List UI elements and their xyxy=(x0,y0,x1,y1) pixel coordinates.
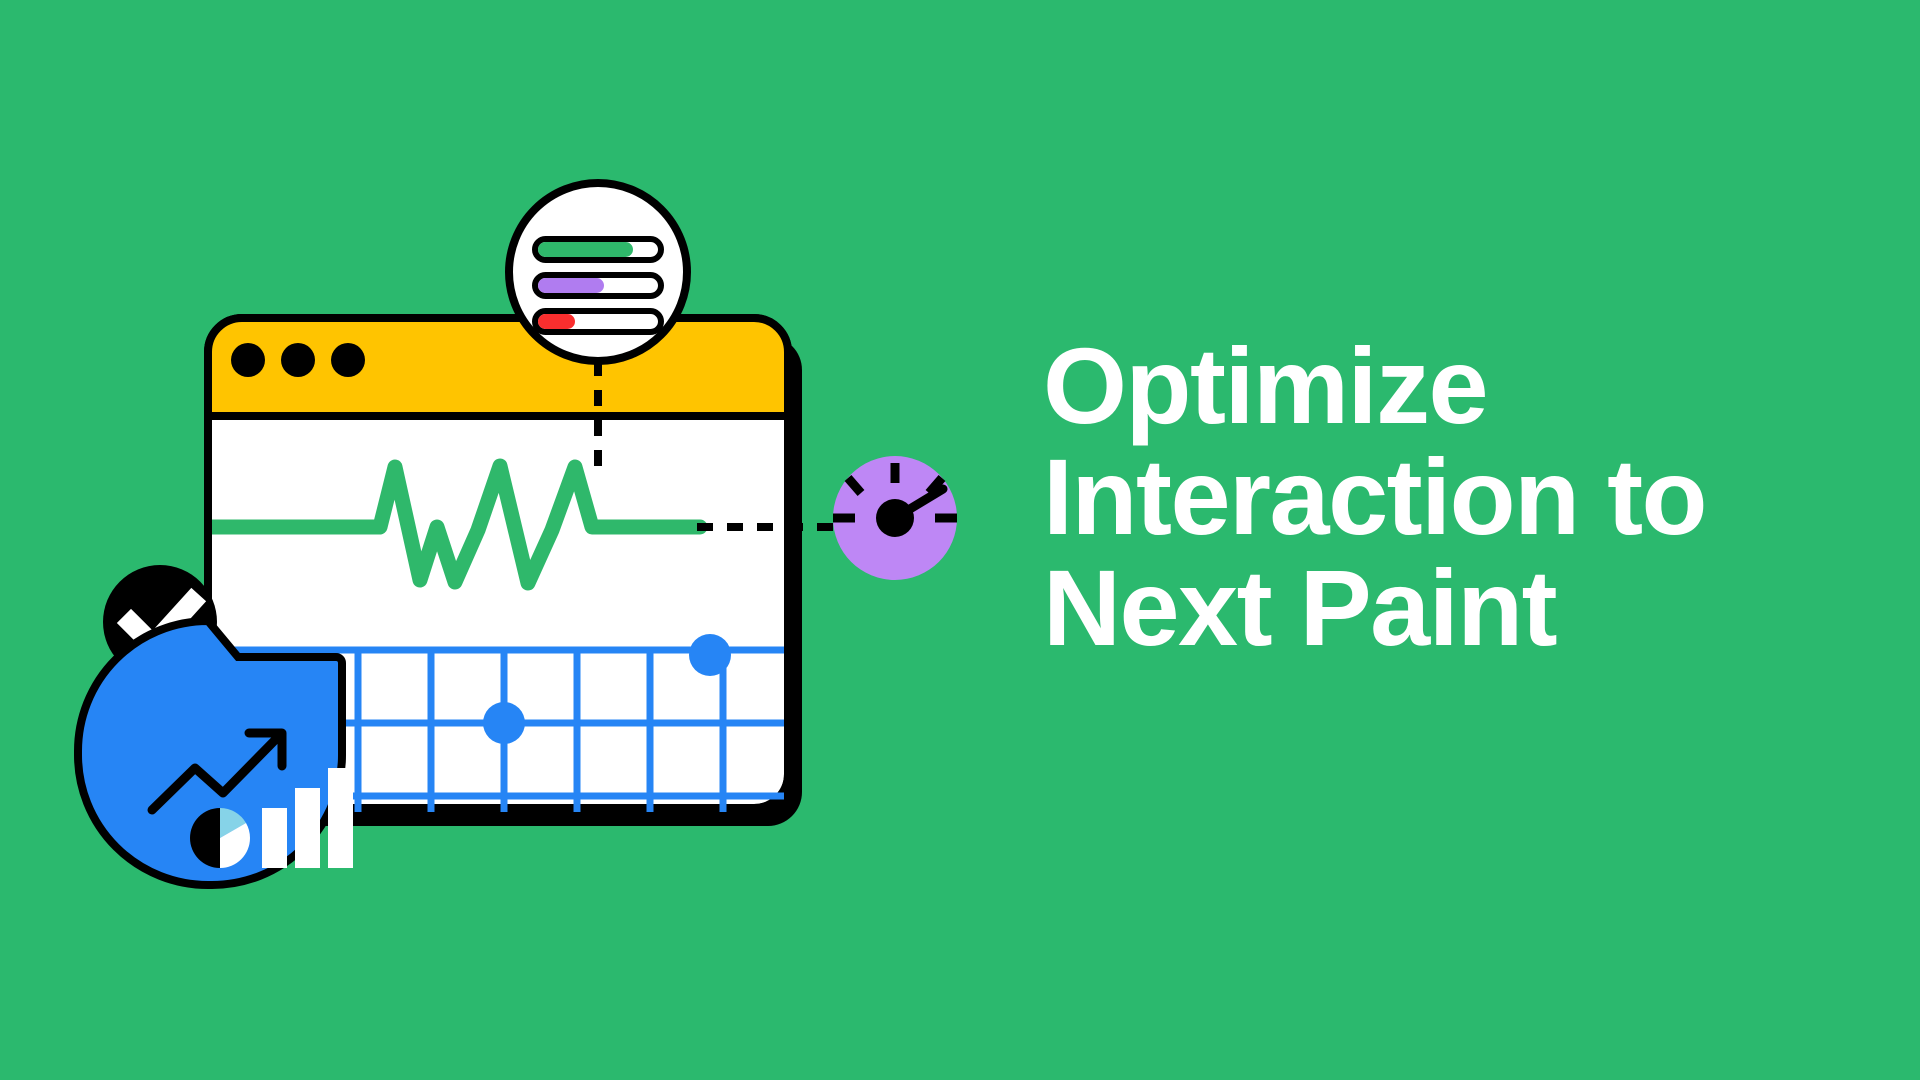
grid-data-point-2[interactable] xyxy=(689,634,731,676)
shield-bar-3 xyxy=(328,768,353,868)
metric-bar-fill-needs-improvement xyxy=(538,278,604,293)
metric-bar-fill-poor xyxy=(538,314,575,329)
page-title: Optimize Interaction to Next Paint xyxy=(1043,330,1873,664)
traffic-light-dot-close[interactable] xyxy=(231,343,265,377)
speed-gauge[interactable] xyxy=(833,456,957,580)
shield-bar-1 xyxy=(262,808,287,868)
illustration-group xyxy=(0,0,1020,1080)
pie-chart-icon xyxy=(190,808,250,868)
traffic-light-dot-maximize[interactable] xyxy=(331,343,365,377)
illustration-svg xyxy=(0,0,1020,1080)
grid-data-point-1[interactable] xyxy=(483,702,525,744)
gauge-hub xyxy=(876,499,914,537)
shield-bar-2 xyxy=(295,788,320,868)
metrics-bars-badge[interactable] xyxy=(509,183,687,361)
metric-bar-fill-good xyxy=(538,242,633,257)
traffic-light-dot-minimize[interactable] xyxy=(281,343,315,377)
analytics-shield-badge[interactable] xyxy=(78,621,353,885)
headline-line-1: Optimize xyxy=(1043,330,1873,441)
hero-banner: Optimize Interaction to Next Paint xyxy=(0,0,1920,1080)
headline-line-2: Interaction to xyxy=(1043,441,1873,552)
headline-line-3: Next Paint xyxy=(1043,552,1873,663)
